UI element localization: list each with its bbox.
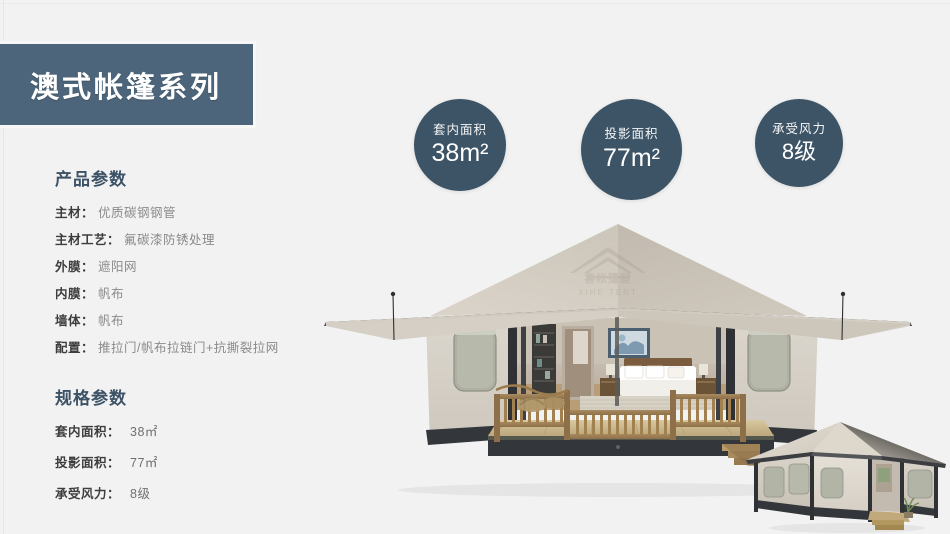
spec-value: 推拉门/帆布拉链门+抗撕裂拉网 — [98, 337, 279, 356]
spec-label: 配置： — [55, 337, 94, 356]
spec-label: 套内面积： — [55, 421, 120, 440]
spec-label: 外膜： — [55, 256, 94, 275]
title-banner: 澳式帐篷系列 — [0, 44, 253, 125]
badge-value: 38m² — [432, 141, 489, 166]
list-item: 内膜： 帆布 — [55, 283, 355, 302]
badge-label: 投影面积 — [604, 128, 658, 141]
spec-value: 38㎡ — [130, 421, 158, 440]
spec-value: 氟碳漆防锈处理 — [124, 229, 215, 248]
spec-value: 帆布 — [98, 283, 124, 302]
list-item: 墙体： 帆布 — [55, 310, 355, 329]
list-item: 主材工艺： 氟碳漆防锈处理 — [55, 229, 355, 248]
spec-value: 遮阳网 — [98, 256, 137, 275]
slide-edge-line-top — [0, 3, 950, 4]
spec-params-heading: 规格参数 — [55, 384, 355, 409]
list-item: 投影面积： 77㎡ — [55, 452, 355, 471]
product-params-heading: 产品参数 — [55, 165, 355, 190]
badge-label: 承受风力 — [772, 123, 826, 136]
spec-label: 承受风力： — [55, 483, 120, 502]
list-item: 承受风力： 8级 — [55, 483, 355, 502]
page-title: 澳式帐篷系列 — [0, 64, 222, 106]
spec-value: 8级 — [130, 483, 150, 502]
list-item: 配置： 推拉门/帆布拉链门+抗撕裂拉网 — [55, 337, 355, 356]
slide-page: 澳式帐篷系列 产品参数 主材： 优质碳钢钢管 主材工艺： 氟碳漆防锈处理 外膜：… — [0, 0, 950, 534]
spec-params-list: 套内面积： 38㎡ 投影面积： 77㎡ 承受风力： 8级 — [55, 421, 355, 502]
spec-value: 77㎡ — [130, 452, 158, 471]
spec-params-block: 规格参数 套内面积： 38㎡ 投影面积： 77㎡ 承受风力： 8级 — [55, 384, 355, 502]
info-column: 产品参数 主材： 优质碳钢钢管 主材工艺： 氟碳漆防锈处理 外膜： 遮阳网 内膜… — [55, 165, 355, 514]
spec-label: 投影面积： — [55, 452, 120, 471]
badge-value: 8级 — [782, 141, 816, 163]
list-item: 套内面积： 38㎡ — [55, 421, 355, 440]
spec-value: 优质碳钢钢管 — [98, 202, 176, 221]
badge-label: 套内面积 — [433, 124, 487, 137]
stat-badge-wind-resistance: 承受风力 8级 — [755, 99, 843, 187]
stat-badge-interior-area: 套内面积 38m² — [414, 99, 506, 191]
list-item: 主材： 优质碳钢钢管 — [55, 202, 355, 221]
spec-label: 主材工艺： — [55, 229, 120, 248]
spec-label: 墙体： — [55, 310, 94, 329]
spec-value: 帆布 — [98, 310, 124, 329]
tent-thumbnail-image — [742, 412, 950, 534]
spec-label: 内膜： — [55, 283, 94, 302]
product-params-list: 主材： 优质碳钢钢管 主材工艺： 氟碳漆防锈处理 外膜： 遮阳网 内膜： 帆布 … — [55, 202, 355, 356]
badge-value: 77m² — [603, 146, 660, 171]
spec-label: 主材： — [55, 202, 94, 221]
stat-badge-projected-area: 投影面积 77m² — [581, 99, 682, 200]
list-item: 外膜： 遮阳网 — [55, 256, 355, 275]
